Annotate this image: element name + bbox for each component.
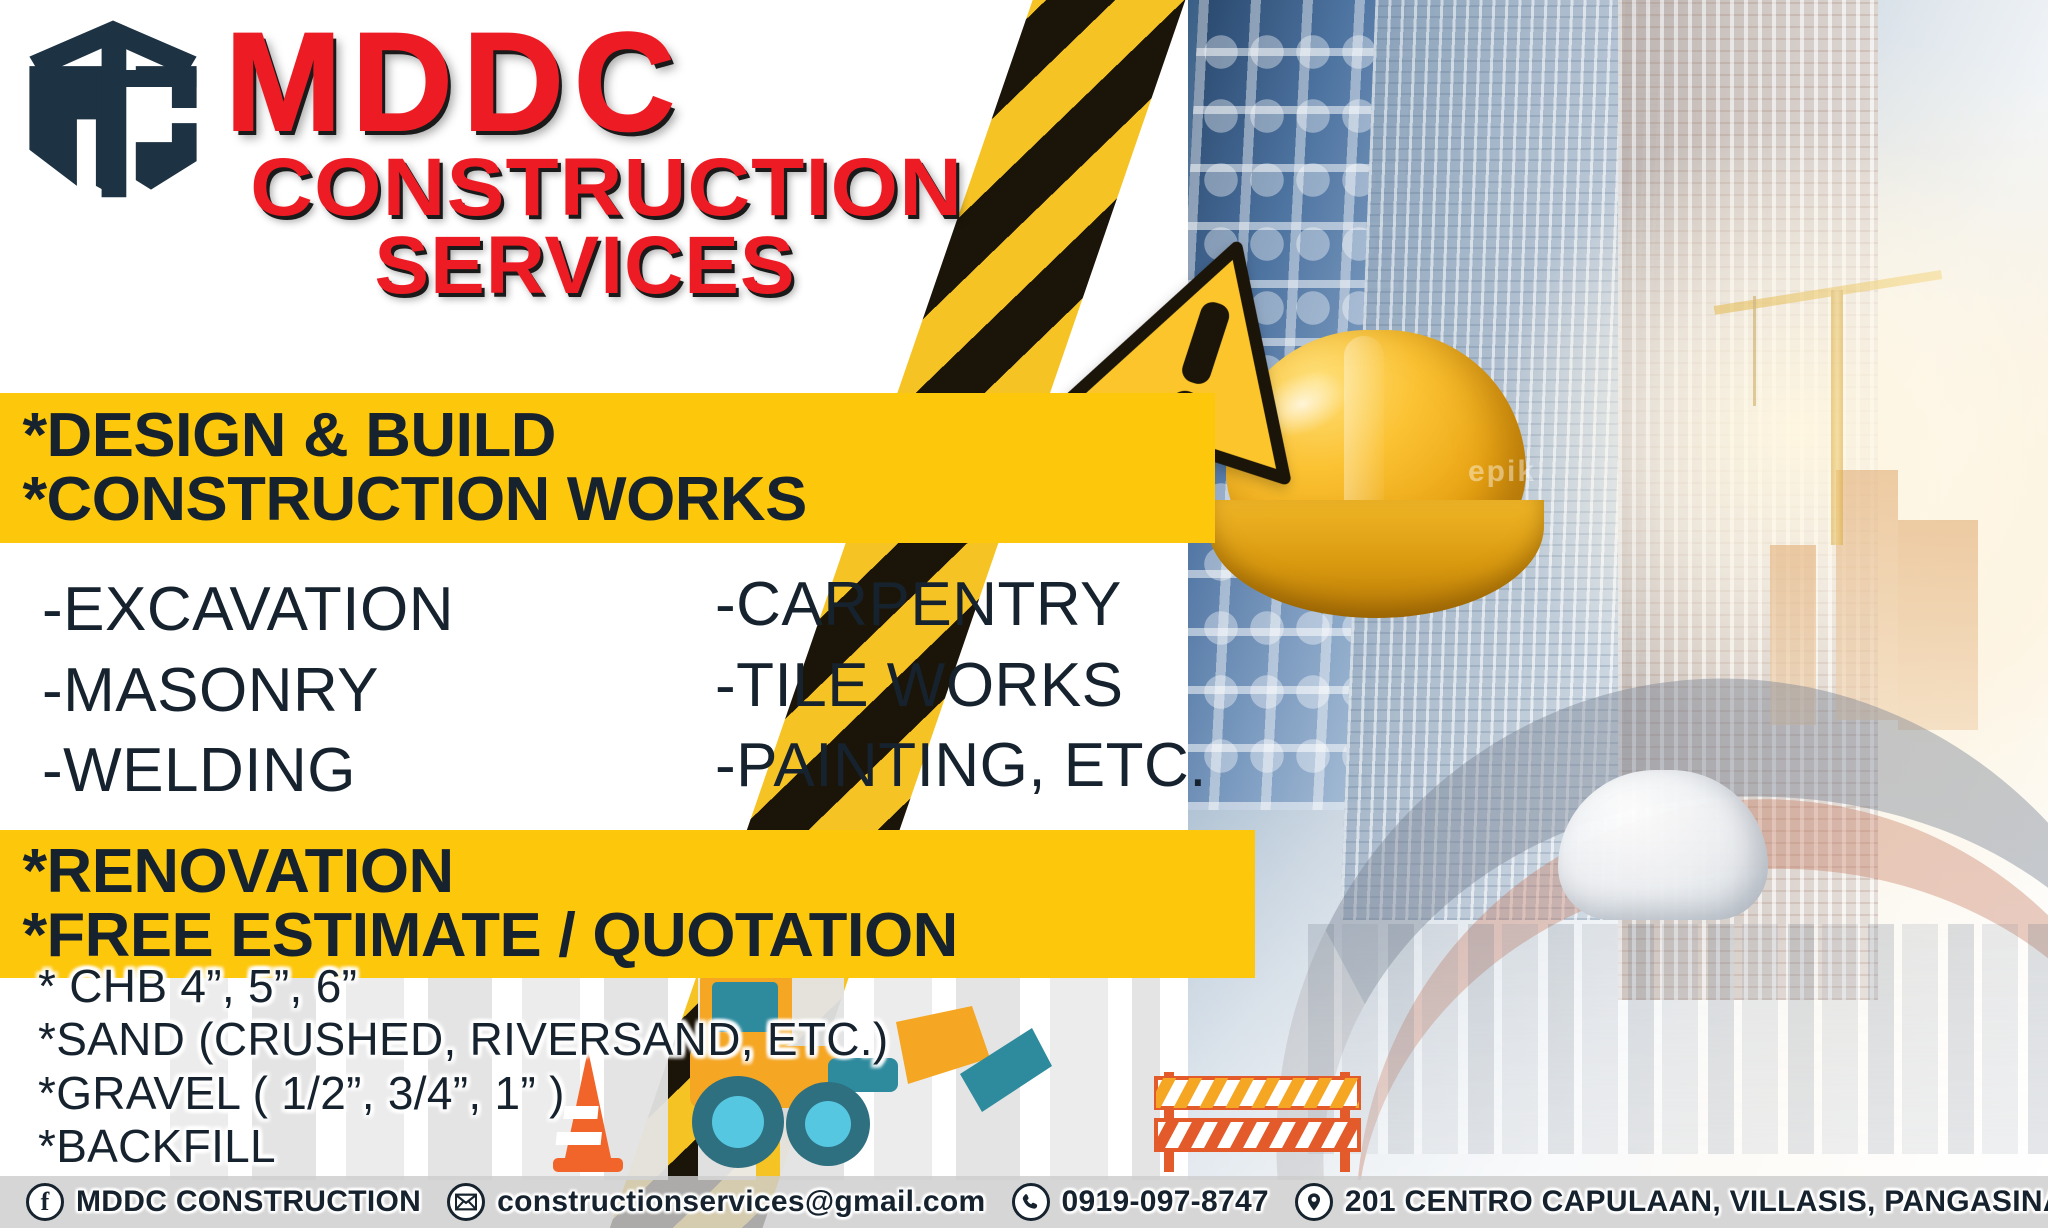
contact-footer-bar: f MDDC CONSTRUCTION constructionservices… [0, 1176, 2048, 1228]
facebook-icon: f [26, 1183, 64, 1221]
service-item-welding: -WELDING [42, 731, 454, 812]
brand-line-construction: CONSTRUCTION [225, 149, 988, 227]
contact-facebook[interactable]: f MDDC CONSTRUCTION [26, 1183, 421, 1221]
material-item-backfill: *BACKFILL [38, 1120, 888, 1173]
mc-monogram-hexagon-logo [18, 16, 208, 198]
material-item-sand: *SAND (CRUSHED, RIVERSAND, ETC.) [38, 1013, 888, 1066]
poster-canvas: epik MDDC CONSTRUCTION SERVICES *DESIGN … [0, 0, 2048, 1228]
email-icon [447, 1183, 485, 1221]
brand-title-block: MDDC CONSTRUCTION SERVICES [225, 18, 945, 305]
email-address: constructionservices@gmail.com [497, 1185, 985, 1219]
service-item-carpentry: -CARPENTRY [715, 565, 1207, 646]
material-item-chb: * CHB 4”, 5”, 6” [38, 960, 888, 1013]
banner-line-design-build: *DESIGN & BUILD [0, 404, 1239, 468]
service-item-painting: -PAINTING, ETC. [715, 726, 1207, 807]
contact-email[interactable]: constructionservices@gmail.com [447, 1183, 985, 1221]
address-text: 201 CENTRO CAPULAAN, VILLASIS, PANGASINA… [1345, 1185, 2048, 1219]
offers-banner: *RENOVATION *FREE ESTIMATE / QUOTATION [0, 830, 1255, 978]
skyline-building-2 [1898, 520, 1978, 730]
construction-photo-collage: epik [1188, 0, 2048, 1180]
service-item-excavation: -EXCAVATION [42, 570, 454, 651]
service-list-left: -EXCAVATION -MASONRY -WELDING [42, 570, 454, 812]
banner-line-construction-works: *CONSTRUCTION WORKS [0, 468, 1239, 532]
watermark-text: epik [1468, 455, 1536, 489]
services-banner: *DESIGN & BUILD *CONSTRUCTION WORKS [0, 393, 1215, 543]
materials-list: * CHB 4”, 5”, 6” *SAND (CRUSHED, RIVERSA… [38, 960, 888, 1173]
low-city-skyline [1308, 924, 2048, 1154]
contact-phone[interactable]: 0919-097-8747 [1012, 1183, 1269, 1221]
service-item-tile-works: -TILE WORKS [715, 646, 1207, 727]
brand-name: MDDC [225, 18, 945, 147]
road-barrier-icon [1150, 1054, 1365, 1174]
phone-number: 0919-097-8747 [1062, 1185, 1269, 1219]
banner-line-free-estimate: *FREE ESTIMATE / QUOTATION [0, 904, 1280, 968]
material-item-gravel: *GRAVEL ( 1/2”, 3/4”, 1” ) [38, 1067, 888, 1120]
facebook-page-name: MDDC CONSTRUCTION [76, 1185, 421, 1219]
phone-icon [1012, 1183, 1050, 1221]
contact-address[interactable]: 201 CENTRO CAPULAAN, VILLASIS, PANGASINA… [1295, 1183, 2048, 1221]
location-pin-icon [1295, 1183, 1333, 1221]
service-list-right: -CARPENTRY -TILE WORKS -PAINTING, ETC. [715, 565, 1207, 807]
banner-line-renovation: *RENOVATION [0, 840, 1280, 904]
service-item-masonry: -MASONRY [42, 651, 454, 732]
brand-line-services: SERVICES [225, 227, 945, 305]
tower-crane-icon [1723, 250, 1953, 550]
